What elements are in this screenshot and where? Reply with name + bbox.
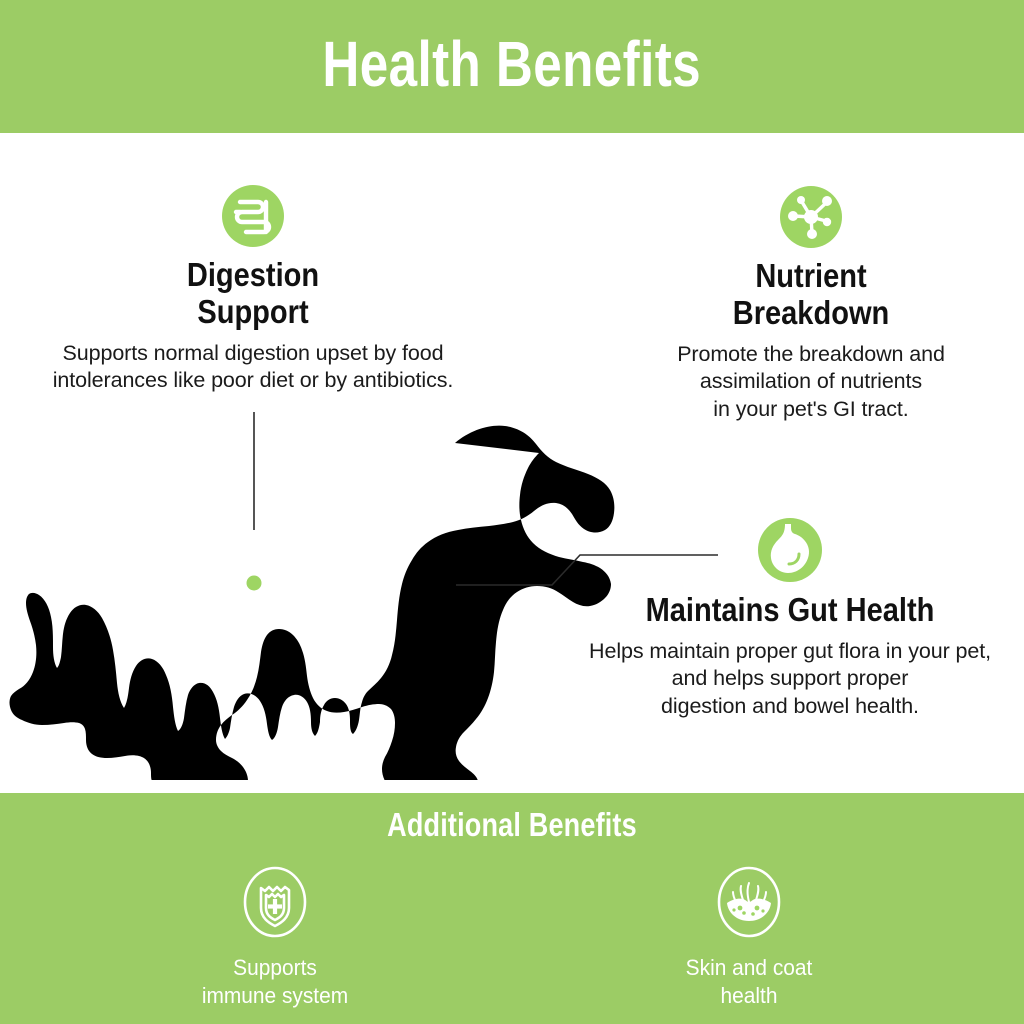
- additional-benefits-title: Additional Benefits: [92, 808, 932, 841]
- stomach-icon: [560, 518, 1020, 582]
- additional-benefit-immune: Supports immune system: [175, 866, 375, 1009]
- benefit-digestion: Digestion Support Supports normal digest…: [18, 185, 488, 395]
- benefit-title: Digestion Support: [46, 257, 460, 331]
- stomach-icon-svg: [758, 518, 822, 582]
- benefit-title: Maintains Gut Health: [588, 592, 993, 629]
- molecule-icon: [610, 186, 1012, 248]
- additional-benefits-list: Supports immune system: [0, 866, 1024, 1009]
- infographic-page: Health Benefits: [0, 0, 1024, 1024]
- header-band: Health Benefits: [0, 0, 1024, 133]
- additional-benefit-label: Supports immune system: [180, 954, 370, 1009]
- benefit-description: Supports normal digestion upset by food …: [18, 340, 488, 395]
- skin-hair-icon-svg: [713, 866, 785, 938]
- benefit-description: Helps maintain proper gut flora in your …: [560, 638, 1020, 721]
- page-title: Health Benefits: [323, 32, 702, 102]
- benefit-nutrient: Nutrient Breakdown Promote the breakdown…: [610, 186, 1012, 423]
- intestine-icon-svg: [222, 185, 284, 247]
- benefit-title: Nutrient Breakdown: [634, 258, 988, 332]
- additional-benefit-skin-coat: Skin and coat health: [649, 866, 849, 1009]
- shield-plus-icon-svg: [239, 866, 311, 938]
- additional-benefit-label: Skin and coat health: [654, 954, 844, 1009]
- benefit-gut: Maintains Gut Health Helps maintain prop…: [560, 518, 1020, 721]
- shield-plus-icon: [175, 866, 375, 938]
- benefit-description: Promote the breakdown and assimilation o…: [610, 341, 1012, 424]
- skin-hair-icon: [649, 866, 849, 938]
- additional-benefits-band: Additional Benefits Supports immune syst…: [0, 793, 1024, 1024]
- intestine-icon: [18, 185, 488, 247]
- molecule-icon-svg: [780, 186, 842, 248]
